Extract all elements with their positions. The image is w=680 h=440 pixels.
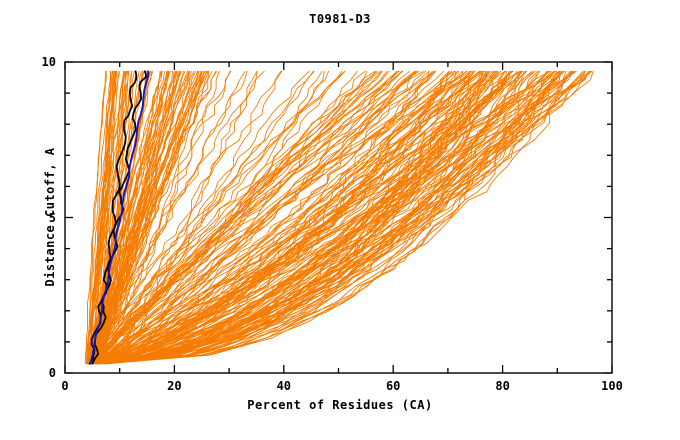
model-curves-orange [85,71,593,363]
x-tick-label: 60 [386,379,400,393]
chart-title: T0981-D3 [0,12,680,26]
chart-figure: T0981-D3 Distance Cutoff, A Percent of R… [0,0,680,440]
x-tick-label: 100 [601,379,623,393]
y-tick-label: 10 [0,55,56,69]
x-tick-label: 80 [495,379,509,393]
x-tick-label: 40 [277,379,291,393]
plot-canvas [0,0,680,440]
y-tick-label: 0 [0,366,56,380]
x-tick-label: 20 [167,379,181,393]
x-axis-label: Percent of Residues (CA) [0,398,680,412]
y-tick-label: 5 [0,211,56,225]
x-tick-label: 0 [61,379,68,393]
